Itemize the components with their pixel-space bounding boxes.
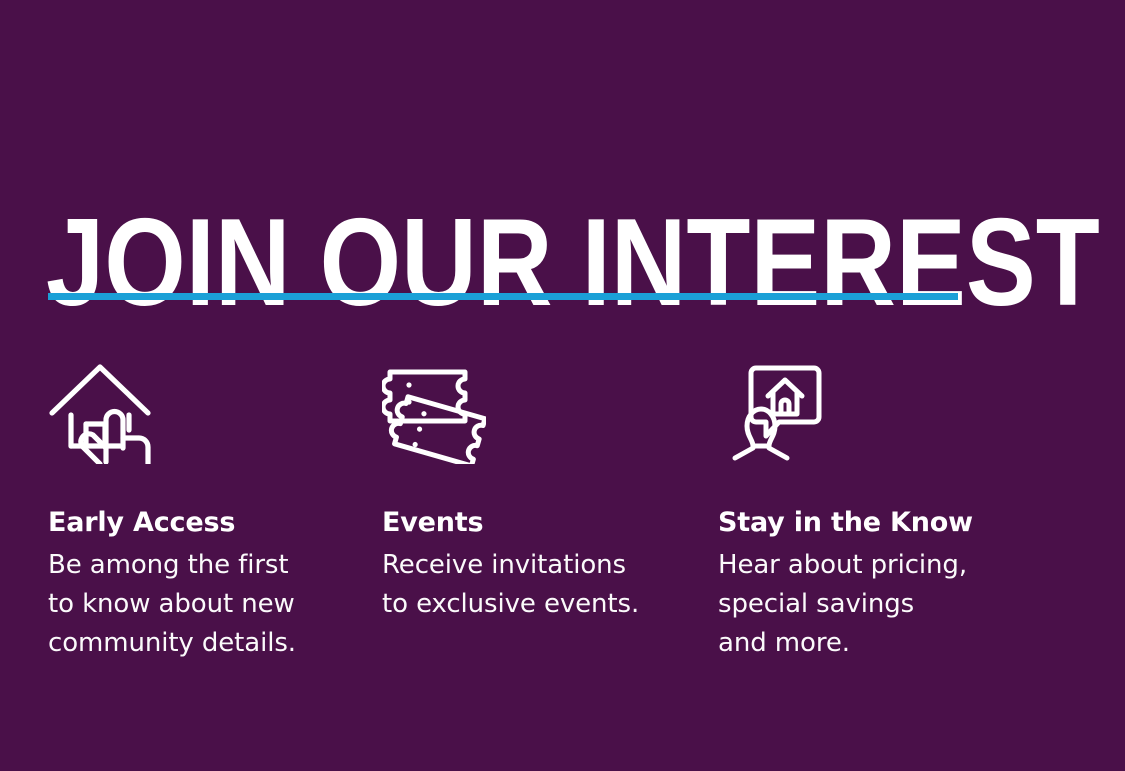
house-hand-icon (48, 352, 358, 464)
interest-list-banner: Join Our Interest List (0, 0, 1125, 771)
feature-title: Events (382, 506, 682, 539)
feature-body: Be among the first to know about new com… (48, 546, 358, 663)
person-speech-bubble-house-icon (718, 352, 1018, 464)
accent-divider (48, 293, 958, 300)
tickets-icon (382, 352, 682, 464)
feature-item: Events Receive invitations to exclusive … (382, 352, 682, 624)
page-title: Join Our Interest List (46, 201, 891, 325)
feature-columns: Early Access Be among the first to know … (0, 352, 1125, 692)
feature-body: Receive invitations to exclusive events. (382, 546, 682, 624)
feature-title: Stay in the Know (718, 506, 1018, 539)
feature-title: Early Access (48, 506, 358, 539)
feature-item: Early Access Be among the first to know … (48, 352, 358, 663)
feature-item: Stay in the Know Hear about pricing, spe… (718, 352, 1018, 663)
feature-body: Hear about pricing, special savings and … (718, 546, 1018, 663)
